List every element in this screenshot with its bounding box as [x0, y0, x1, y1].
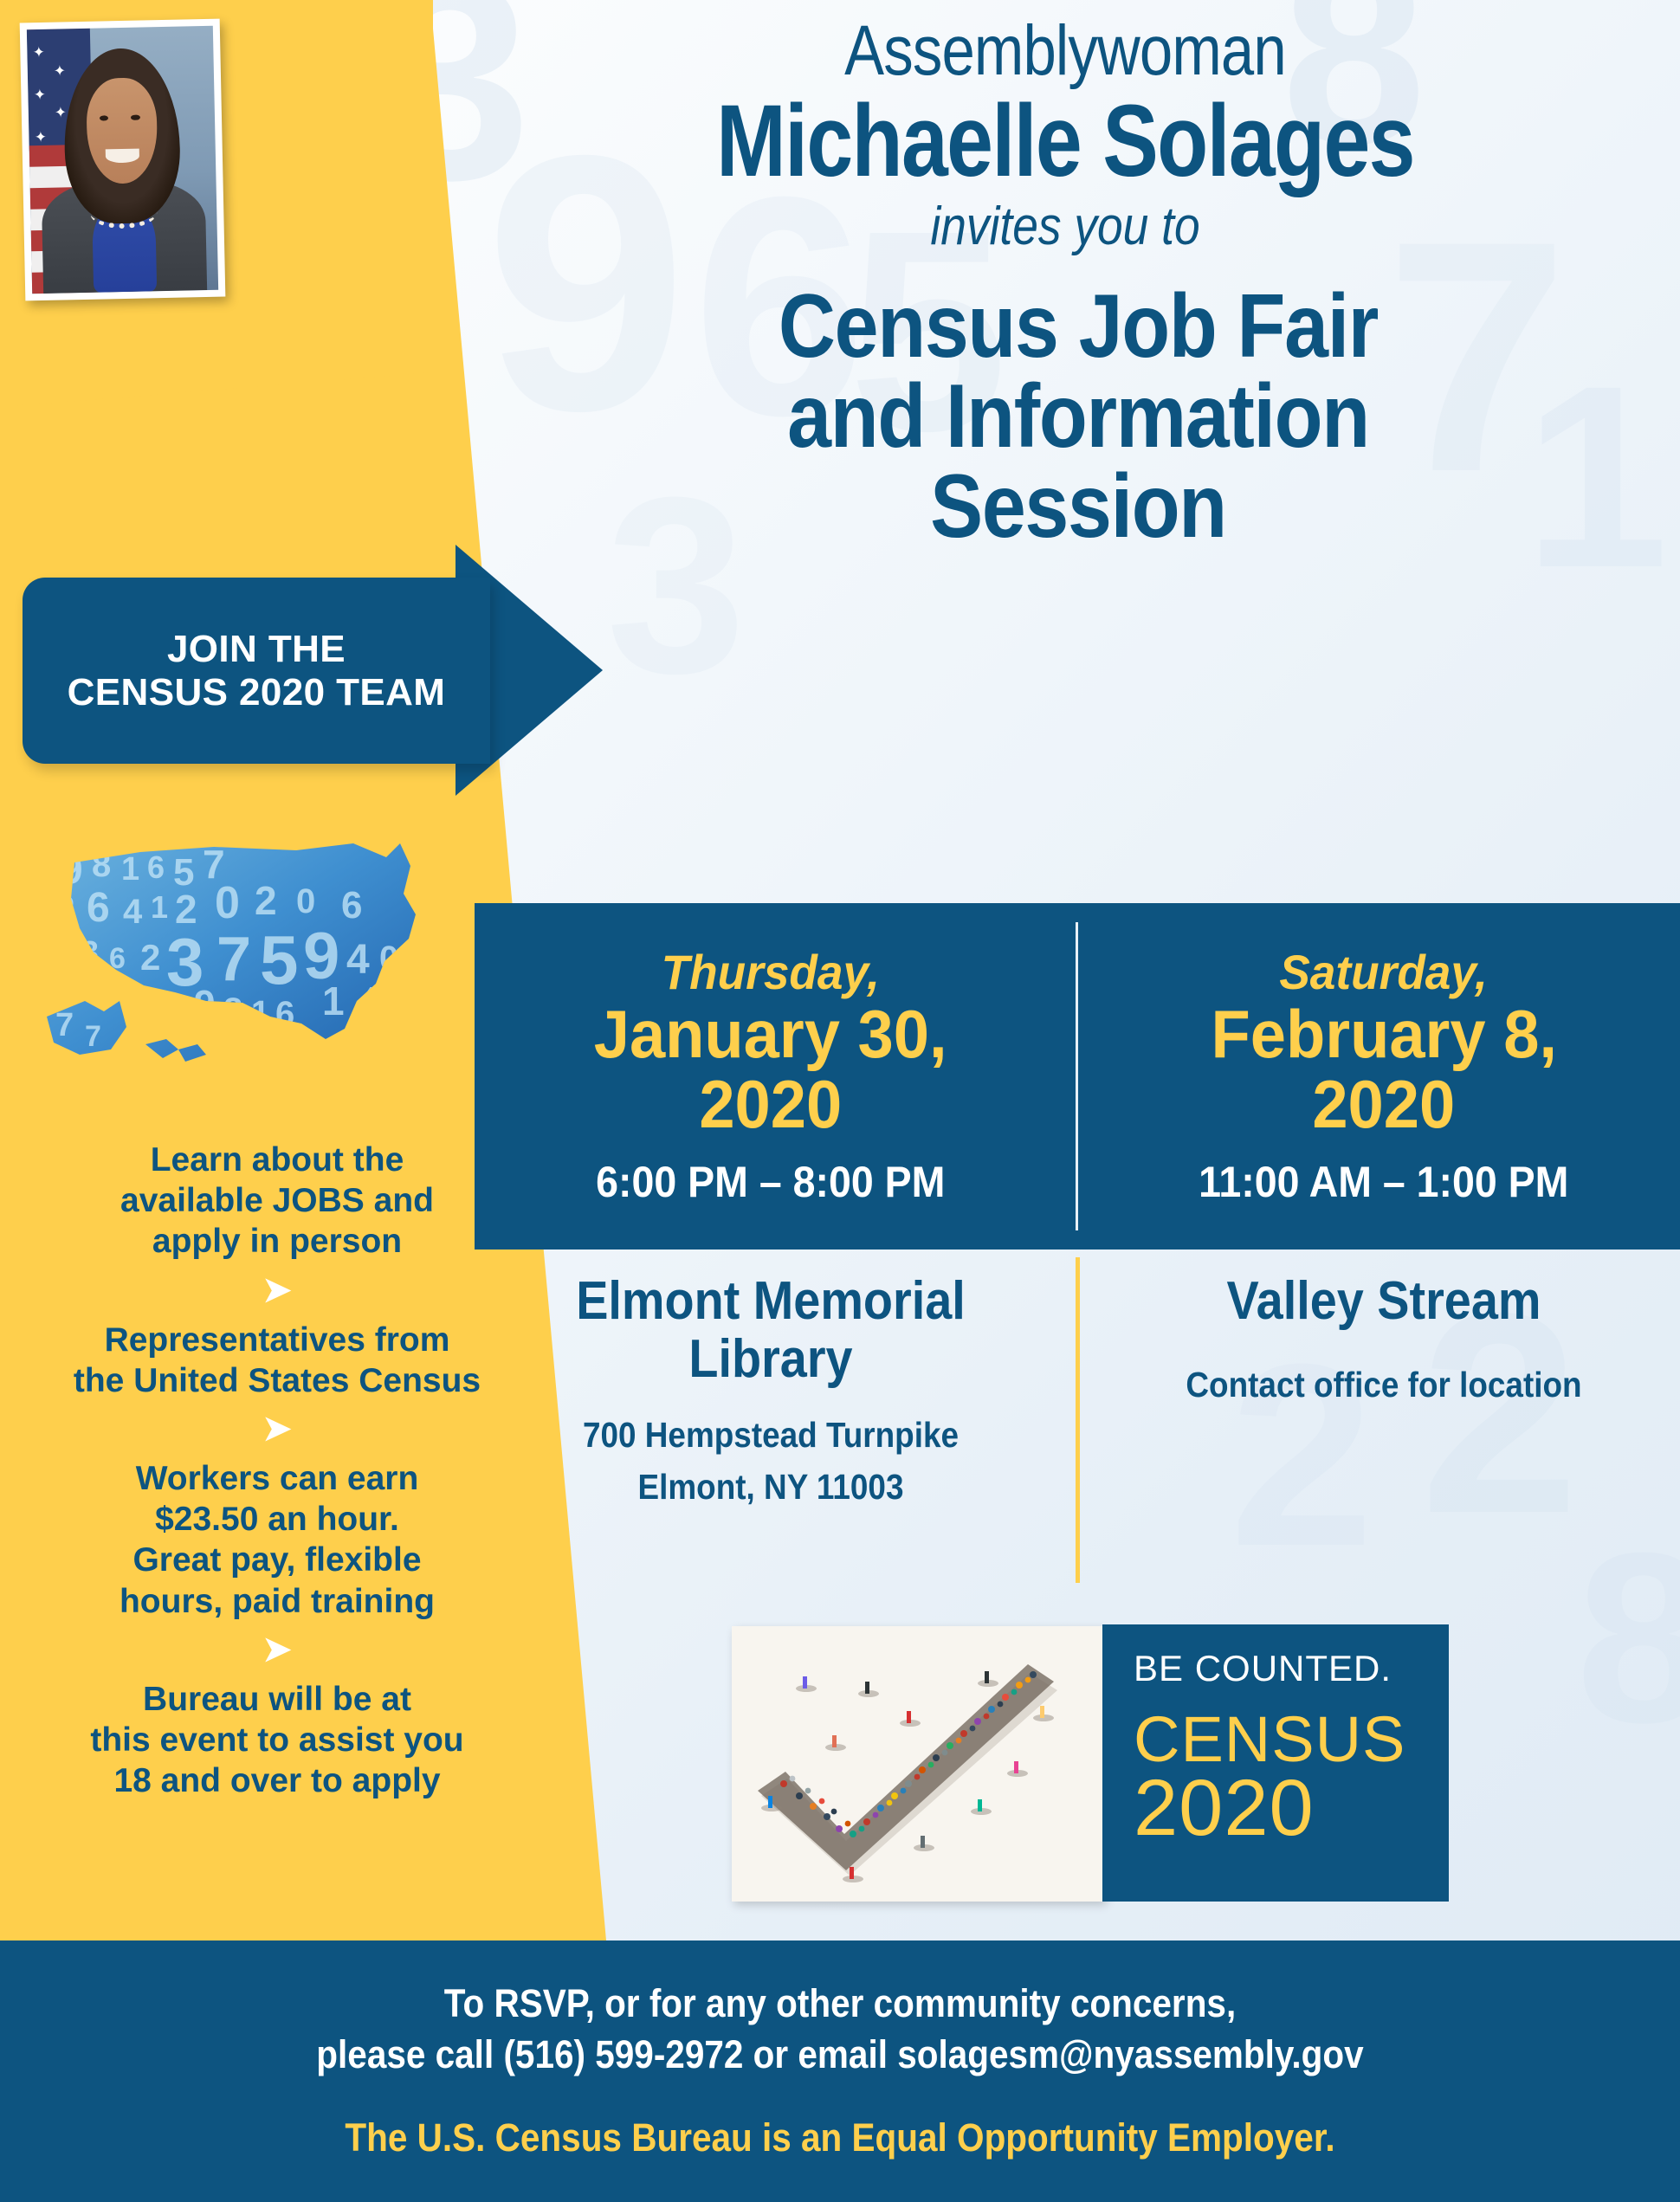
census-year: 2020 — [1134, 1768, 1449, 1848]
event-2-date-line1: February 8, — [1211, 1000, 1556, 1069]
event-2-time: 11:00 AM – 1:00 PM — [1199, 1159, 1568, 1206]
svg-text:6: 6 — [275, 995, 294, 1033]
chevron-right-icon: ➤ — [17, 1632, 537, 1667]
list-item-line: available JOBS and — [29, 1180, 525, 1221]
event-1-date-line2: 2020 — [700, 1070, 843, 1140]
avatar: ✦ ✦ ✦ ✦ ✦ — [20, 19, 226, 301]
event-dates-band: Thursday, January 30, 2020 6:00 PM – 8:0… — [475, 903, 1680, 1250]
event-1-address-line1: 700 Hempstead Turnpike — [517, 1411, 1025, 1458]
list-item-line: $23.50 an hour. — [29, 1499, 525, 1540]
event-title-line2: and Information — [586, 371, 1569, 462]
svg-text:7: 7 — [45, 933, 68, 979]
svg-text:8: 8 — [50, 887, 75, 937]
footer-line1: To RSVP, or for any other community conc… — [84, 1940, 1596, 2030]
event-2-venue-note: Contact office for location — [1130, 1362, 1638, 1408]
svg-text:6: 6 — [147, 849, 165, 885]
list-item-line: Representatives from — [29, 1320, 525, 1360]
event-divider — [1076, 922, 1078, 1230]
list-item-line: Great pay, flexible — [29, 1540, 525, 1580]
venue-divider — [1076, 1257, 1080, 1583]
assemblywoman-name: Michaelle Solages — [590, 88, 1541, 195]
portrait-smile — [106, 149, 139, 163]
svg-text:4: 4 — [346, 937, 370, 983]
flyer-canvas: 3 8 9 6 5 7 1 2 2 8 0 3 ✦ ✦ ✦ ✦ ✦ — [0, 0, 1680, 2202]
event-1-venue-line1: Elmont Memorial — [517, 1273, 1025, 1331]
svg-text:6: 6 — [87, 885, 110, 931]
event-1-day: Thursday, — [662, 946, 880, 998]
event-1-time: 6:00 PM – 8:00 PM — [596, 1159, 945, 1206]
svg-text:4: 4 — [359, 979, 380, 1022]
join-team-arrow-banner: JOIN THE CENSUS 2020 TEAM — [23, 578, 603, 764]
svg-text:1: 1 — [251, 995, 269, 1031]
list-item-line: the United States Census — [29, 1360, 525, 1401]
list-item-line: hours, paid training — [29, 1581, 525, 1622]
svg-text:6: 6 — [341, 884, 362, 927]
event-2-venue: Valley Stream Contact office for locatio… — [1088, 1257, 1680, 1408]
footer-line2: please call (516) 599-2972 or email sola… — [84, 2030, 1596, 2081]
event-1-venue-line2: Library — [517, 1331, 1025, 1389]
title-eyebrow: Assemblywoman — [578, 16, 1553, 87]
chevron-right-icon: ➤ — [17, 1411, 537, 1446]
page-title: Assemblywoman Michaelle Solages invites … — [485, 16, 1645, 255]
invites-text: invites you to — [566, 198, 1564, 255]
svg-text:7: 7 — [55, 1007, 74, 1043]
census-tagline: BE COUNTED. — [1134, 1650, 1449, 1687]
svg-text:8: 8 — [92, 846, 111, 884]
footer-contact: To RSVP, or for any other community conc… — [0, 1940, 1680, 2202]
svg-text:1: 1 — [151, 889, 168, 925]
event-1-date-line1: January 30, — [594, 1000, 947, 1069]
svg-text:2: 2 — [255, 878, 277, 923]
svg-text:7: 7 — [232, 1028, 251, 1066]
svg-text:1: 1 — [121, 851, 139, 888]
event-title-line3: Session — [586, 462, 1569, 552]
list-item-line: Workers can earn — [29, 1458, 525, 1499]
list-item-line: Bureau will be at — [29, 1679, 525, 1720]
list-item-line: 18 and over to apply — [29, 1760, 525, 1801]
event-venues: Elmont Memorial Library 700 Hempstead Tu… — [475, 1257, 1680, 1595]
svg-text:7: 7 — [216, 925, 251, 994]
list-item-line: this event to assist you — [29, 1720, 525, 1760]
svg-text:6: 6 — [109, 942, 126, 975]
equal-opportunity-statement: The U.S. Census Bureau is an Equal Oppor… — [84, 2113, 1596, 2164]
arrow-banner-text: JOIN THE CENSUS 2020 TEAM — [23, 578, 490, 764]
census-2020-logo: BE COUNTED. CENSUS 2020 — [1102, 1624, 1449, 1902]
svg-text:0: 0 — [215, 878, 240, 928]
chevron-right-icon: ➤ — [17, 1273, 537, 1308]
us-map-icon: 9 8 1 6 5 7 8 6 4 1 2 0 2 0 6 7 3 — [36, 831, 443, 1091]
portrait-photo: ✦ ✦ ✦ ✦ ✦ — [27, 26, 218, 294]
arrow-banner-line2: CENSUS 2020 TEAM — [68, 671, 446, 714]
svg-text:9: 9 — [194, 983, 215, 1025]
svg-text:1: 1 — [322, 978, 345, 1024]
list-item: Bureau will be at this event to assist y… — [17, 1679, 537, 1802]
svg-text:8: 8 — [223, 991, 242, 1030]
event-2-venue-line1: Valley Stream — [1130, 1273, 1638, 1331]
event-1-address-line2: Elmont, NY 11003 — [517, 1463, 1025, 1510]
svg-text:9: 9 — [61, 847, 83, 892]
event-2-datetime: Saturday, February 8, 2020 11:00 AM – 1:… — [1088, 903, 1680, 1250]
benefits-list: Learn about the available JOBS and apply… — [17, 1140, 537, 1801]
list-item: Learn about the available JOBS and apply… — [17, 1140, 537, 1262]
crowd-checkmark-photo — [732, 1626, 1104, 1902]
arrow-banner-line1: JOIN THE — [167, 628, 346, 670]
event-title: Census Job Fair and Information Session — [586, 281, 1569, 552]
svg-text:0: 0 — [379, 940, 398, 978]
svg-text:0: 0 — [296, 882, 315, 920]
svg-text:4: 4 — [123, 893, 143, 931]
svg-text:5: 5 — [260, 921, 299, 998]
event-1-datetime: Thursday, January 30, 2020 6:00 PM – 8:0… — [475, 903, 1067, 1250]
svg-text:7: 7 — [85, 1020, 101, 1053]
event-2-day: Saturday, — [1280, 946, 1488, 998]
event-1-venue: Elmont Memorial Library 700 Hempstead Tu… — [475, 1257, 1067, 1510]
svg-text:2: 2 — [140, 937, 160, 978]
list-item: Representatives from the United States C… — [17, 1320, 537, 1401]
list-item-line: Learn about the — [29, 1140, 525, 1180]
svg-text:3: 3 — [81, 934, 99, 970]
event-title-line1: Census Job Fair — [586, 281, 1569, 371]
list-item: Workers can earn $23.50 an hour. Great p… — [17, 1458, 537, 1622]
event-2-date-line2: 2020 — [1313, 1070, 1456, 1140]
list-item-line: apply in person — [29, 1221, 525, 1262]
